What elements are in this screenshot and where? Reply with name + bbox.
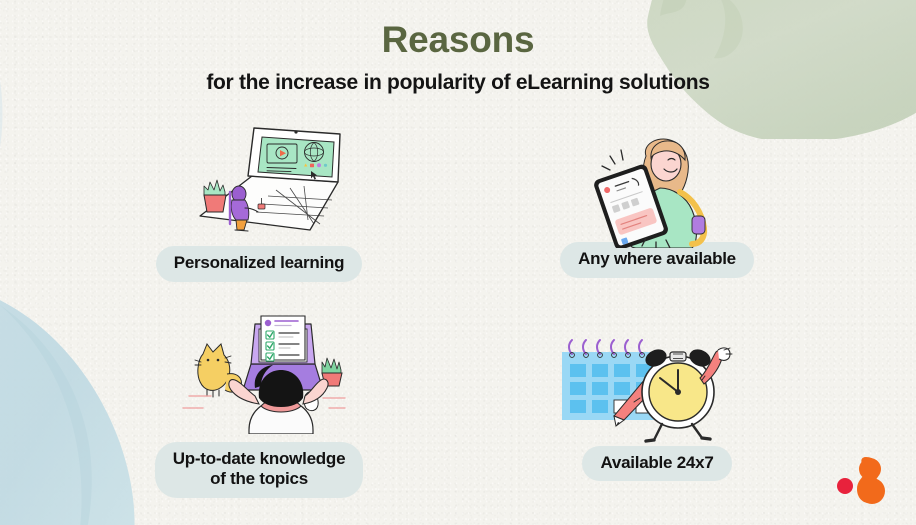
laptop-elearning-illustration [192,120,344,238]
reason-card-available-24x7[interactable]: Available 24x7 [458,308,856,498]
page-title: Reasons [0,18,916,62]
infographic-canvas: Reasons for the increase in popularity o… [0,0,916,525]
calendar-and-alarm-clock-illustration [552,326,734,444]
reason-label: Personalized learning [156,246,362,282]
reason-label: Available 24x7 [582,446,731,482]
person-at-laptop-checklist-illustration [181,316,346,434]
reason-card-up-to-date-knowledge[interactable]: Up-to-date knowledge of the topics [60,308,458,498]
reason-card-any-where-available[interactable]: Any where available [458,118,856,308]
reason-label: Up-to-date knowledge of the topics [155,442,364,498]
brand-logo[interactable] [836,453,894,505]
woman-with-phone-illustration [580,130,722,248]
reasons-grid: Personalized learning [60,118,856,498]
header-block: Reasons for the increase in popularity o… [0,18,916,95]
page-subtitle: for the increase in popularity of eLearn… [0,70,916,95]
reason-card-personalized-learning[interactable]: Personalized learning [60,118,458,308]
